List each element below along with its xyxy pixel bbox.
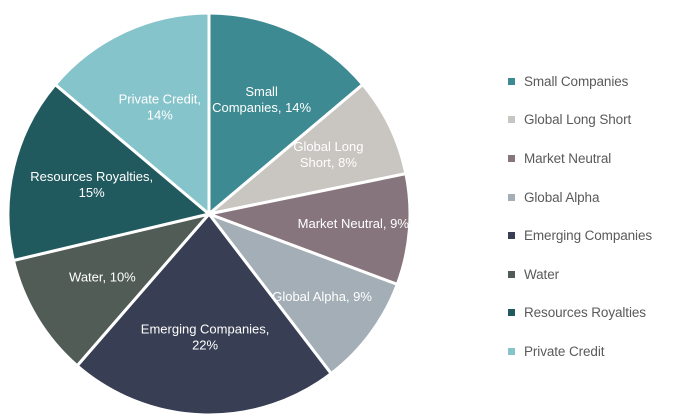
legend-swatch-icon: [508, 194, 515, 201]
pie-slice-label: Global LongShort, 8%: [293, 140, 363, 171]
legend-item[interactable]: Private Credit: [508, 332, 676, 371]
legend-item-label: Water: [524, 267, 559, 282]
legend-item-label: Market Neutral: [524, 151, 611, 166]
legend-item[interactable]: Global Alpha: [508, 178, 676, 217]
pie-slice-label: Global Alpha, 9%: [272, 289, 372, 304]
chart-legend: Small CompaniesGlobal Long ShortMarket N…: [508, 62, 676, 371]
pie-slices: [8, 13, 410, 415]
legend-item-label: Global Long Short: [524, 112, 631, 127]
legend-item[interactable]: Global Long Short: [508, 101, 676, 140]
pie-svg: SmallCompanies, 14%Global LongShort, 8%M…: [0, 0, 440, 418]
legend-item-label: Resources Royalties: [524, 305, 646, 320]
legend-item[interactable]: Resources Royalties: [508, 294, 676, 333]
legend-item[interactable]: Small Companies: [508, 62, 676, 101]
legend-swatch-icon: [508, 155, 515, 162]
pie-chart-figure: SmallCompanies, 14%Global LongShort, 8%M…: [0, 0, 681, 418]
pie-plot-area: SmallCompanies, 14%Global LongShort, 8%M…: [0, 0, 440, 418]
legend-swatch-icon: [508, 309, 515, 316]
legend-item-label: Global Alpha: [524, 190, 599, 205]
legend-item[interactable]: Market Neutral: [508, 139, 676, 178]
legend-item[interactable]: Water: [508, 255, 676, 294]
legend-item[interactable]: Emerging Companies: [508, 216, 676, 255]
legend-item-label: Small Companies: [524, 74, 628, 89]
pie-slice-label: Market Neutral, 9%: [298, 217, 410, 232]
legend-swatch-icon: [508, 116, 515, 123]
legend-item-label: Emerging Companies: [524, 228, 652, 243]
pie-slice-label: Water, 10%: [69, 270, 136, 285]
legend-item-label: Private Credit: [524, 344, 604, 359]
legend-swatch-icon: [508, 348, 515, 355]
legend-swatch-icon: [508, 232, 515, 239]
legend-swatch-icon: [508, 78, 515, 85]
legend-swatch-icon: [508, 271, 515, 278]
